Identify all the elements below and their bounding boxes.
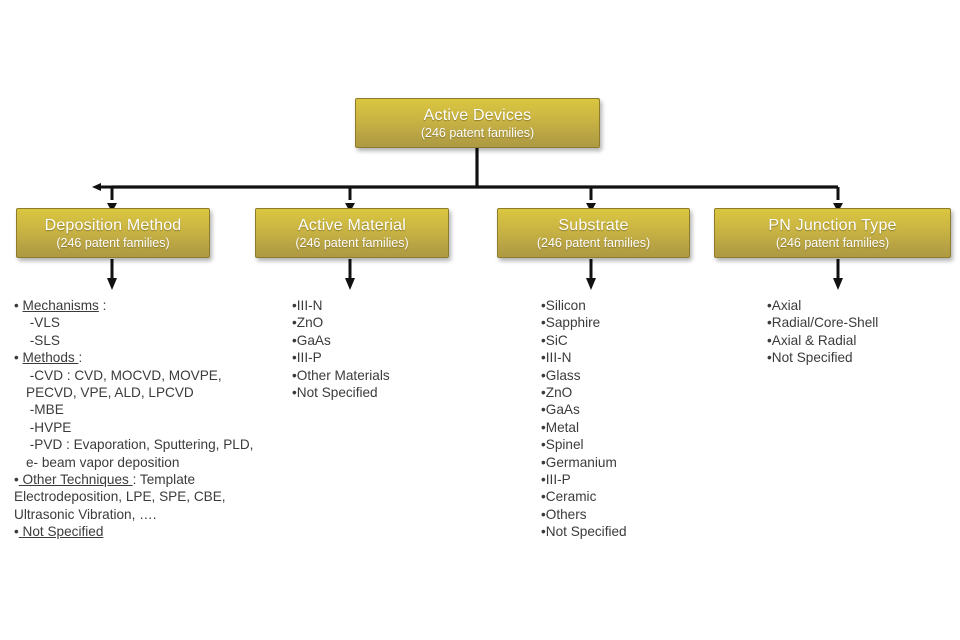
list-item: •SiC — [541, 332, 721, 349]
branch-node-title: PN Junction Type — [768, 216, 896, 235]
list-item: •Not Specified — [292, 384, 472, 401]
list-item-underlined-label: Other Techniques — [19, 472, 133, 487]
list-item: •ZnO — [292, 314, 472, 331]
list-item: -VLS — [14, 314, 259, 331]
list-item: •Not Specified — [767, 349, 960, 366]
list-item: •III-N — [292, 297, 472, 314]
list-item: •Metal — [541, 419, 721, 436]
list-item: -HVPE — [14, 419, 259, 436]
arrow-list-2 — [586, 278, 596, 290]
arrow-list-0 — [107, 278, 117, 290]
list-item: •Silicon — [541, 297, 721, 314]
list-item: •Glass — [541, 367, 721, 384]
diagram-canvas: Active Devices (246 patent families) Dep… — [0, 0, 960, 640]
root-node-title: Active Devices — [424, 106, 532, 125]
list-deposition-method: • Mechanisms : -VLS -SLS• Methods : -CVD… — [14, 297, 259, 541]
list-item: •Other Materials — [292, 367, 472, 384]
list-item: •III-P — [292, 349, 472, 366]
branch-node-subtitle: (246 patent families) — [56, 235, 169, 251]
list-item: •Ceramic — [541, 488, 721, 505]
branch-node-active-material[interactable]: Active Material (246 patent families) — [255, 208, 449, 258]
list-item: •Germanium — [541, 454, 721, 471]
list-pn-junction-type: •Axial•Radial/Core-Shell•Axial & Radial•… — [767, 297, 960, 367]
branch-node-title: Active Material — [298, 216, 406, 235]
branch-node-subtitle: (246 patent families) — [537, 235, 650, 251]
list-item: •ZnO — [541, 384, 721, 401]
list-item: •III-P — [541, 471, 721, 488]
list-item-underlined-label: Mechanisms — [23, 298, 99, 313]
root-node-active-devices[interactable]: Active Devices (246 patent families) — [355, 98, 600, 148]
list-active-material: •III-N•ZnO•GaAs•III-P•Other Materials•No… — [292, 297, 472, 401]
list-item: •Axial — [767, 297, 960, 314]
list-item: •Sapphire — [541, 314, 721, 331]
list-item: •Axial & Radial — [767, 332, 960, 349]
list-item-underlined-label: Methods — [23, 350, 79, 365]
list-item: • Methods : — [14, 349, 259, 366]
list-item: •GaAs — [292, 332, 472, 349]
branch-node-substrate[interactable]: Substrate (246 patent families) — [497, 208, 690, 258]
list-item: -SLS — [14, 332, 259, 349]
branch-node-title: Deposition Method — [45, 216, 182, 235]
list-item: • Other Techniques : Template Electrodep… — [14, 471, 259, 523]
branch-node-deposition-method[interactable]: Deposition Method (246 patent families) — [16, 208, 210, 258]
list-item: -CVD : CVD, MOCVD, MOVPE, PECVD, VPE, AL… — [14, 367, 259, 402]
branch-node-pn-junction-type[interactable]: PN Junction Type (246 patent families) — [714, 208, 951, 258]
list-item: -MBE — [14, 401, 259, 418]
branch-node-subtitle: (246 patent families) — [295, 235, 408, 251]
root-node-subtitle: (246 patent families) — [421, 125, 534, 141]
arrow-list-1 — [345, 278, 355, 290]
list-item: •Not Specified — [541, 523, 721, 540]
list-item: •Spinel — [541, 436, 721, 453]
list-item: •Others — [541, 506, 721, 523]
list-item: • Not Specified — [14, 523, 259, 540]
list-item: • Mechanisms : — [14, 297, 259, 314]
list-item: -PVD : Evaporation, Sputtering, PLD, e- … — [14, 436, 259, 471]
list-item: •III-N — [541, 349, 721, 366]
list-item: •GaAs — [541, 401, 721, 418]
list-item-underlined-label: Not Specified — [19, 524, 104, 539]
list-item: •Radial/Core-Shell — [767, 314, 960, 331]
list-substrate: •Silicon•Sapphire•SiC•III-N•Glass•ZnO•Ga… — [541, 297, 721, 541]
arrow-list-3 — [833, 278, 843, 290]
branch-node-title: Substrate — [558, 216, 628, 235]
branch-node-subtitle: (246 patent families) — [776, 235, 889, 251]
